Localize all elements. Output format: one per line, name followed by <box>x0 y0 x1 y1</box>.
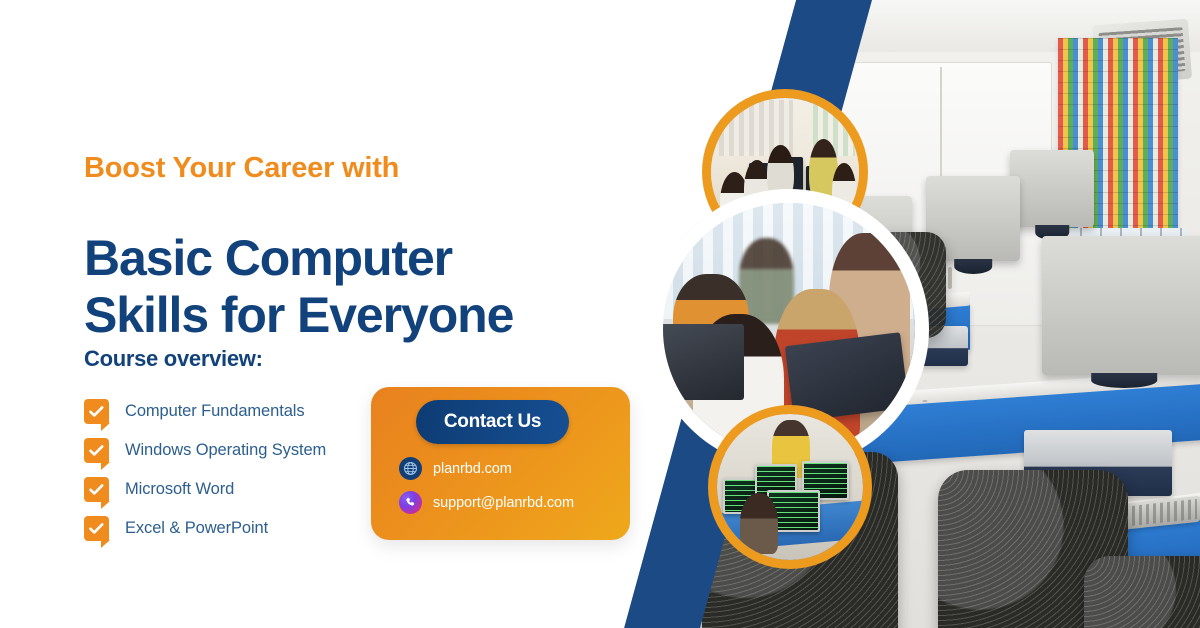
list-item: Computer Fundamentals <box>84 398 326 424</box>
email-text: support@planrbd.com <box>433 495 574 511</box>
course-promo-banner: Boost Your Career with Basic Computer Sk… <box>0 0 1200 628</box>
office-chair-edge <box>1084 556 1200 628</box>
course-overview-label: Course overview: <box>84 346 263 372</box>
list-item-label: Computer Fundamentals <box>125 402 305 421</box>
check-icon <box>84 516 109 541</box>
list-item-label: Excel & PowerPoint <box>125 519 268 538</box>
content-column: Boost Your Career with Basic Computer Sk… <box>0 0 660 628</box>
website-text: planrbd.com <box>433 461 512 477</box>
cabinet-handle-right <box>948 267 952 289</box>
list-item: Microsoft Word <box>84 476 326 502</box>
list-item: Excel & PowerPoint <box>84 515 326 541</box>
photo-circle-bottom <box>717 414 863 560</box>
check-icon <box>84 438 109 463</box>
monitor-front <box>1042 236 1200 375</box>
contact-card: Contact Us planrbd.com <box>371 387 630 540</box>
list-item: Windows Operating System <box>84 437 326 463</box>
viber-phone-icon <box>399 491 422 514</box>
contact-us-button[interactable]: Contact Us <box>416 400 569 444</box>
contact-details: planrbd.com support@planrbd.com <box>399 457 574 514</box>
air-conditioner-unit <box>702 6 822 32</box>
page-title: Basic Computer Skills for Everyone <box>84 230 513 345</box>
list-item-label: Microsoft Word <box>125 480 234 499</box>
check-icon <box>84 477 109 502</box>
check-icon <box>84 399 109 424</box>
website-link[interactable]: planrbd.com <box>399 457 574 480</box>
globe-icon <box>399 457 422 480</box>
eyebrow-text: Boost Your Career with <box>84 152 399 185</box>
monitor-far-back <box>1010 150 1094 227</box>
email-link[interactable]: support@planrbd.com <box>399 491 574 514</box>
list-item-label: Windows Operating System <box>125 441 326 460</box>
course-overview-list: Computer Fundamentals Windows Operating … <box>84 398 326 541</box>
